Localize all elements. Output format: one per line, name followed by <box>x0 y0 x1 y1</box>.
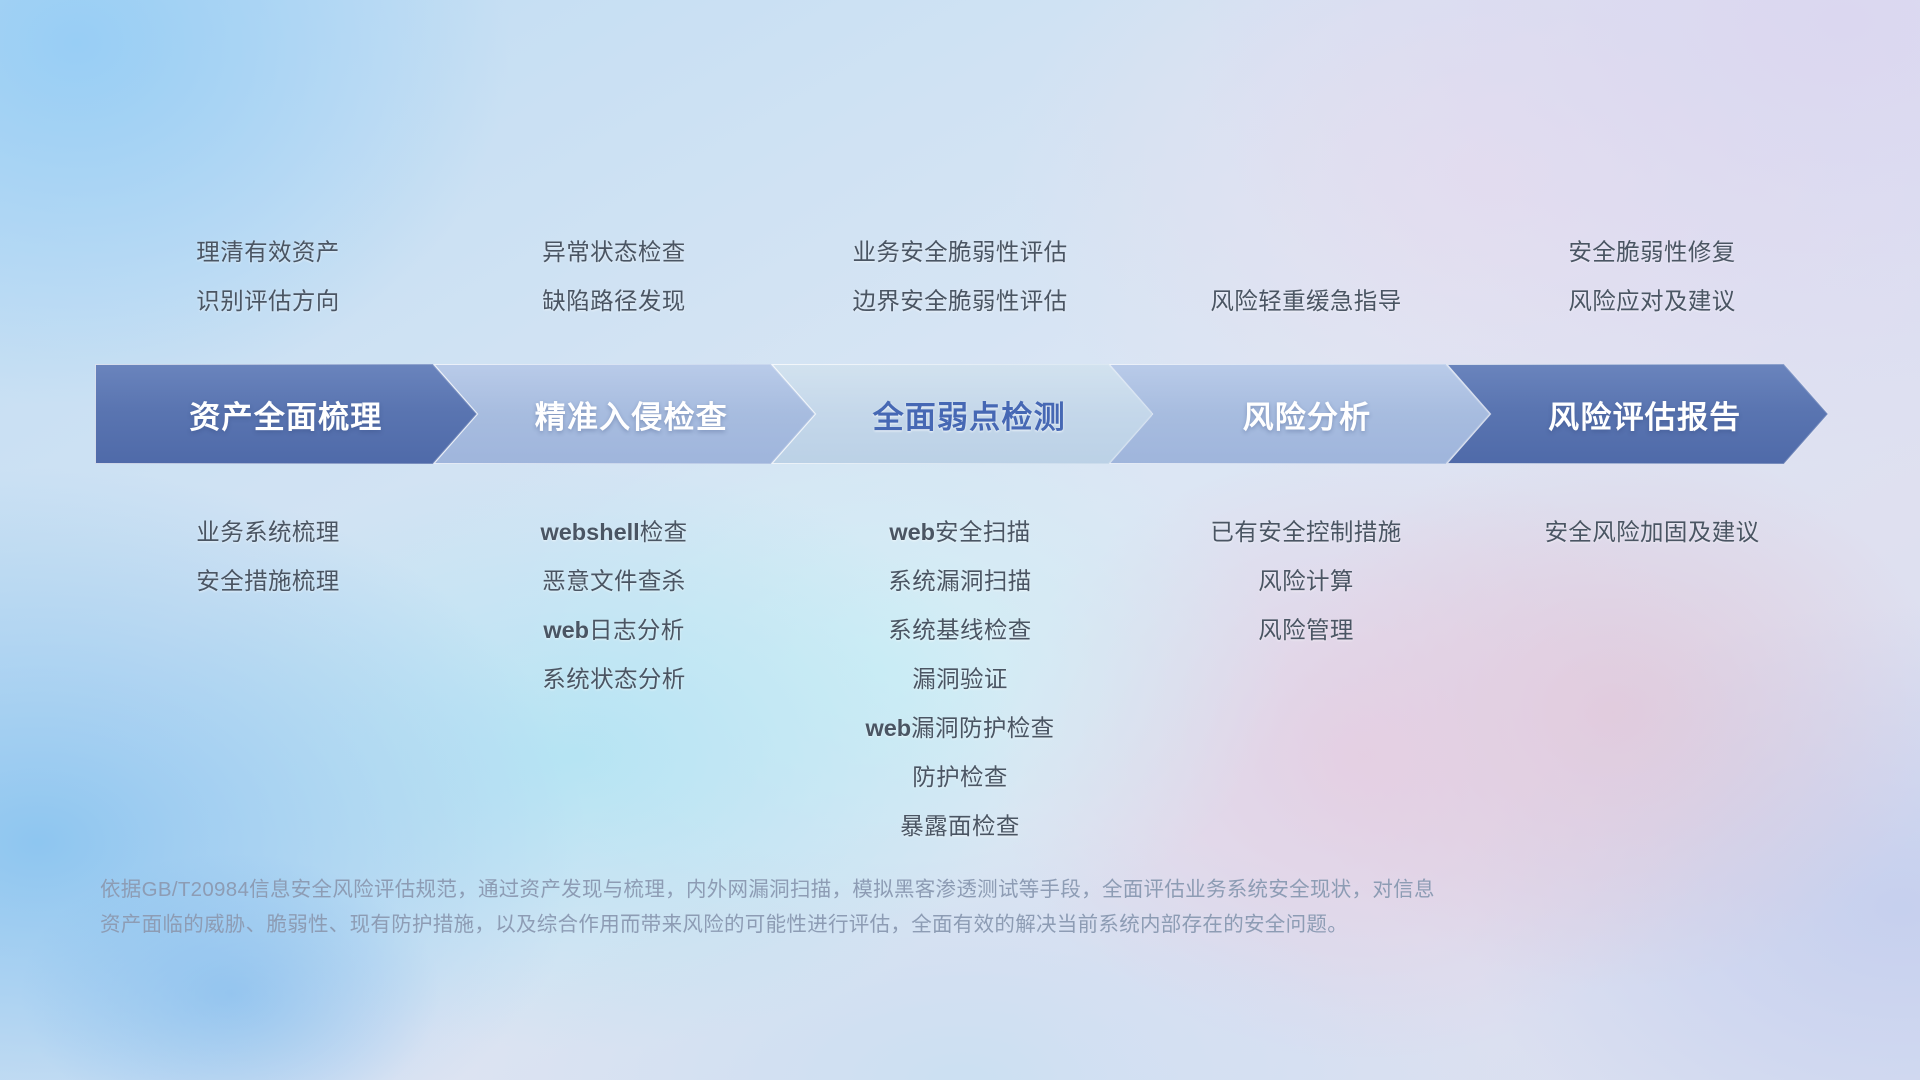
bottom-label-row: 业务系统梳理安全措施梳理webshell检查恶意文件查杀web日志分析系统状态分… <box>95 508 1825 851</box>
label-item: 恶意文件查杀 <box>542 557 685 606</box>
top-labels-asset-inventory: 理清有效资产识别评估方向 <box>95 228 441 326</box>
footer-line-1: 依据GB/T20984信息安全风险评估规范，通过资产发现与梳理，内外网漏洞扫描，… <box>100 872 1620 907</box>
stage-chevron-weakness-detection[interactable]: 全面弱点检测 <box>771 364 1153 464</box>
label-item: 业务系统梳理 <box>196 508 339 557</box>
stage-label: 全面弱点检测 <box>873 392 1066 437</box>
label-item: web日志分析 <box>543 606 684 655</box>
label-item: 暴露面检查 <box>900 802 1020 851</box>
chevron-band: 资产全面梳理精准入侵检查全面弱点检测风险分析风险评估报告 <box>95 364 1828 464</box>
stage-label: 风险评估报告 <box>1548 392 1741 437</box>
label-item: 风险计算 <box>1258 557 1354 606</box>
top-label-row: 理清有效资产识别评估方向异常状态检查缺陷路径发现业务安全脆弱性评估边界安全脆弱性… <box>95 228 1825 326</box>
label-item: 系统基线检查 <box>888 606 1031 655</box>
stage-label: 精准入侵检查 <box>535 392 728 437</box>
label-item: web安全扫描 <box>889 508 1030 557</box>
bottom-labels-weakness-detection: web安全扫描系统漏洞扫描系统基线检查漏洞验证web漏洞防护检查防护检查暴露面检… <box>787 508 1133 851</box>
stage-chevron-intrusion-check[interactable]: 精准入侵检查 <box>433 364 815 464</box>
bottom-labels-intrusion-check: webshell检查恶意文件查杀web日志分析系统状态分析 <box>441 508 787 704</box>
label-item: 安全风险加固及建议 <box>1544 508 1759 557</box>
footer-line-2: 资产面临的威胁、脆弱性、现有防护措施，以及综合作用而带来风险的可能性进行评估，全… <box>100 907 1620 942</box>
label-item: 系统状态分析 <box>542 655 685 704</box>
top-labels-intrusion-check: 异常状态检查缺陷路径发现 <box>441 228 787 326</box>
label-item: webshell检查 <box>540 508 687 557</box>
label-item: 识别评估方向 <box>196 277 339 326</box>
footer-description: 依据GB/T20984信息安全风险评估规范，通过资产发现与梳理，内外网漏洞扫描，… <box>100 872 1620 942</box>
top-labels-weakness-detection: 业务安全脆弱性评估边界安全脆弱性评估 <box>787 228 1133 326</box>
label-item: 风险轻重缓急指导 <box>1210 277 1401 326</box>
top-labels-risk-analysis: 风险轻重缓急指导 <box>1133 228 1479 326</box>
label-item: 安全措施梳理 <box>196 557 339 606</box>
label-item: 风险管理 <box>1258 606 1354 655</box>
stage-label: 资产全面梳理 <box>189 392 382 437</box>
label-item: 已有安全控制措施 <box>1210 508 1401 557</box>
stage-label: 风险分析 <box>1243 392 1372 437</box>
label-item: 安全脆弱性修复 <box>1568 228 1735 277</box>
bottom-labels-asset-inventory: 业务系统梳理安全措施梳理 <box>95 508 441 606</box>
label-item: 系统漏洞扫描 <box>888 557 1031 606</box>
top-labels-assessment-report: 安全脆弱性修复风险应对及建议 <box>1479 228 1825 326</box>
label-item: 风险应对及建议 <box>1568 277 1735 326</box>
bottom-labels-assessment-report: 安全风险加固及建议 <box>1479 508 1825 557</box>
label-item: web漏洞防护检查 <box>865 704 1054 753</box>
bottom-labels-risk-analysis: 已有安全控制措施风险计算风险管理 <box>1133 508 1479 655</box>
label-item: 边界安全脆弱性评估 <box>852 277 1067 326</box>
label-item: 防护检查 <box>912 753 1008 802</box>
label-item: 漏洞验证 <box>912 655 1008 704</box>
stage-chevron-risk-analysis[interactable]: 风险分析 <box>1108 364 1490 464</box>
label-item: 缺陷路径发现 <box>542 277 685 326</box>
stage-chevron-assessment-report[interactable]: 风险评估报告 <box>1446 364 1828 464</box>
label-item: 业务安全脆弱性评估 <box>852 228 1067 277</box>
process-diagram: 理清有效资产识别评估方向异常状态检查缺陷路径发现业务安全脆弱性评估边界安全脆弱性… <box>0 0 1920 1080</box>
label-item: 理清有效资产 <box>196 228 339 277</box>
label-item: 异常状态检查 <box>542 228 685 277</box>
stage-chevron-asset-inventory[interactable]: 资产全面梳理 <box>95 364 477 464</box>
